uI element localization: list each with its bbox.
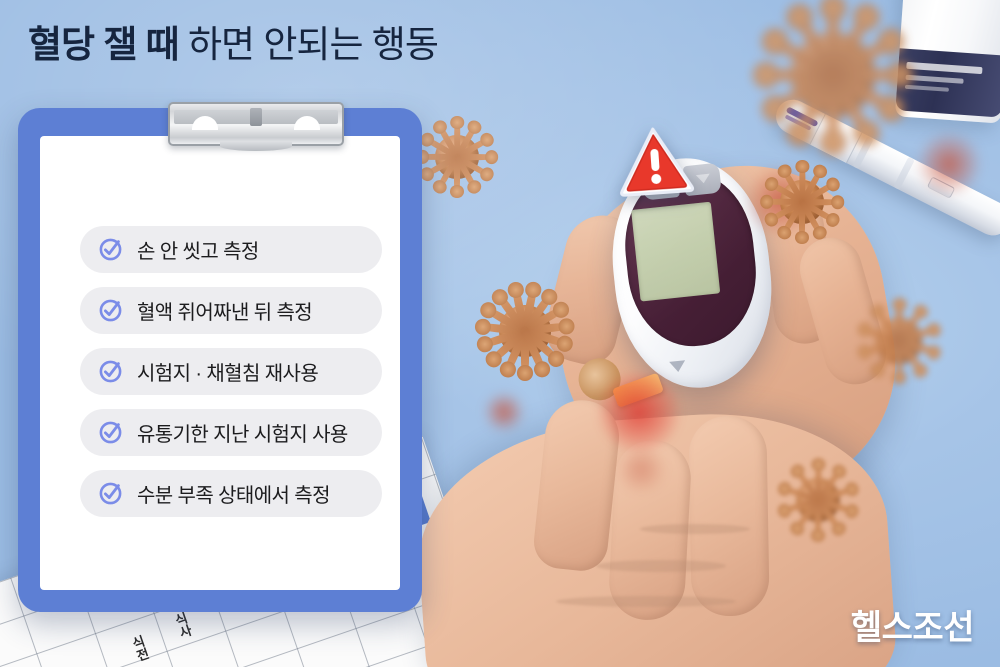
- clip-lip: [220, 141, 292, 151]
- virus-blur-blotch: [482, 392, 526, 432]
- bottle-label-stripe: [906, 62, 982, 74]
- page-title: 혈당 잴 때 하면 안되는 행동: [28, 24, 438, 65]
- blood-drop-glow: [594, 372, 684, 452]
- list-item[interactable]: 손 안 씻고 측정: [80, 226, 382, 273]
- list-item-label: 손 안 씻고 측정: [137, 235, 259, 264]
- virus-particle: [418, 118, 496, 196]
- check-circle-icon: [98, 298, 123, 323]
- meter-strip-slot-marker: [669, 360, 686, 373]
- list-item-label: 수분 부족 상태에서 측정: [137, 479, 330, 508]
- virus-particle: [758, 0, 908, 150]
- check-circle-icon: [98, 359, 123, 384]
- check-circle-icon: [98, 237, 123, 262]
- clipboard-card: 손 안 씻고 측정 혈액 쥐어짜낸 뒤 측정: [18, 108, 422, 612]
- finger: [688, 415, 769, 616]
- palm-crease: [596, 560, 726, 572]
- palm-crease: [640, 524, 750, 534]
- check-circle-icon: [98, 420, 123, 445]
- clipboard-clip-icon: [168, 102, 344, 146]
- bottle-label-stripe: [905, 85, 949, 92]
- virus-particle: [478, 284, 572, 378]
- brand-logo: 헬스조선: [851, 600, 974, 649]
- list-item[interactable]: 시험지 · 채혈침 재사용: [80, 348, 382, 395]
- page-title-normal: 하면 안되는 행동: [179, 24, 438, 65]
- virus-blur-blotch: [612, 446, 670, 492]
- list-item[interactable]: 유통기한 지난 시험지 사용: [80, 409, 382, 456]
- bottle-label: [895, 48, 1000, 117]
- meter-lcd-screen: [631, 202, 720, 302]
- page-title-bold: 혈당 잴 때: [28, 24, 179, 65]
- list-item-label: 혈액 쥐어짜낸 뒤 측정: [137, 296, 312, 325]
- clipboard-paper: 손 안 씻고 측정 혈액 쥐어짜낸 뒤 측정: [40, 136, 400, 590]
- virus-blur-blotch: [914, 132, 984, 196]
- warning-triangle-icon: [615, 123, 696, 198]
- checklist: 손 안 씻고 측정 혈액 쥐어짜낸 뒤 측정: [80, 226, 382, 517]
- virus-particle: [762, 162, 842, 242]
- clip-center: [250, 108, 262, 126]
- check-circle-icon: [98, 481, 123, 506]
- bottle-label-stripe: [905, 75, 963, 84]
- palm-crease: [556, 596, 736, 607]
- test-strip-bottle: [895, 0, 1000, 124]
- list-item[interactable]: 수분 부족 상태에서 측정: [80, 470, 382, 517]
- virus-particle: [778, 460, 858, 540]
- virus-particle: [858, 300, 940, 382]
- list-item-label: 시험지 · 채혈침 재사용: [137, 357, 318, 386]
- list-item[interactable]: 혈액 쥐어짜낸 뒤 측정: [80, 287, 382, 334]
- list-item-label: 유통기한 지난 시험지 사용: [137, 418, 348, 447]
